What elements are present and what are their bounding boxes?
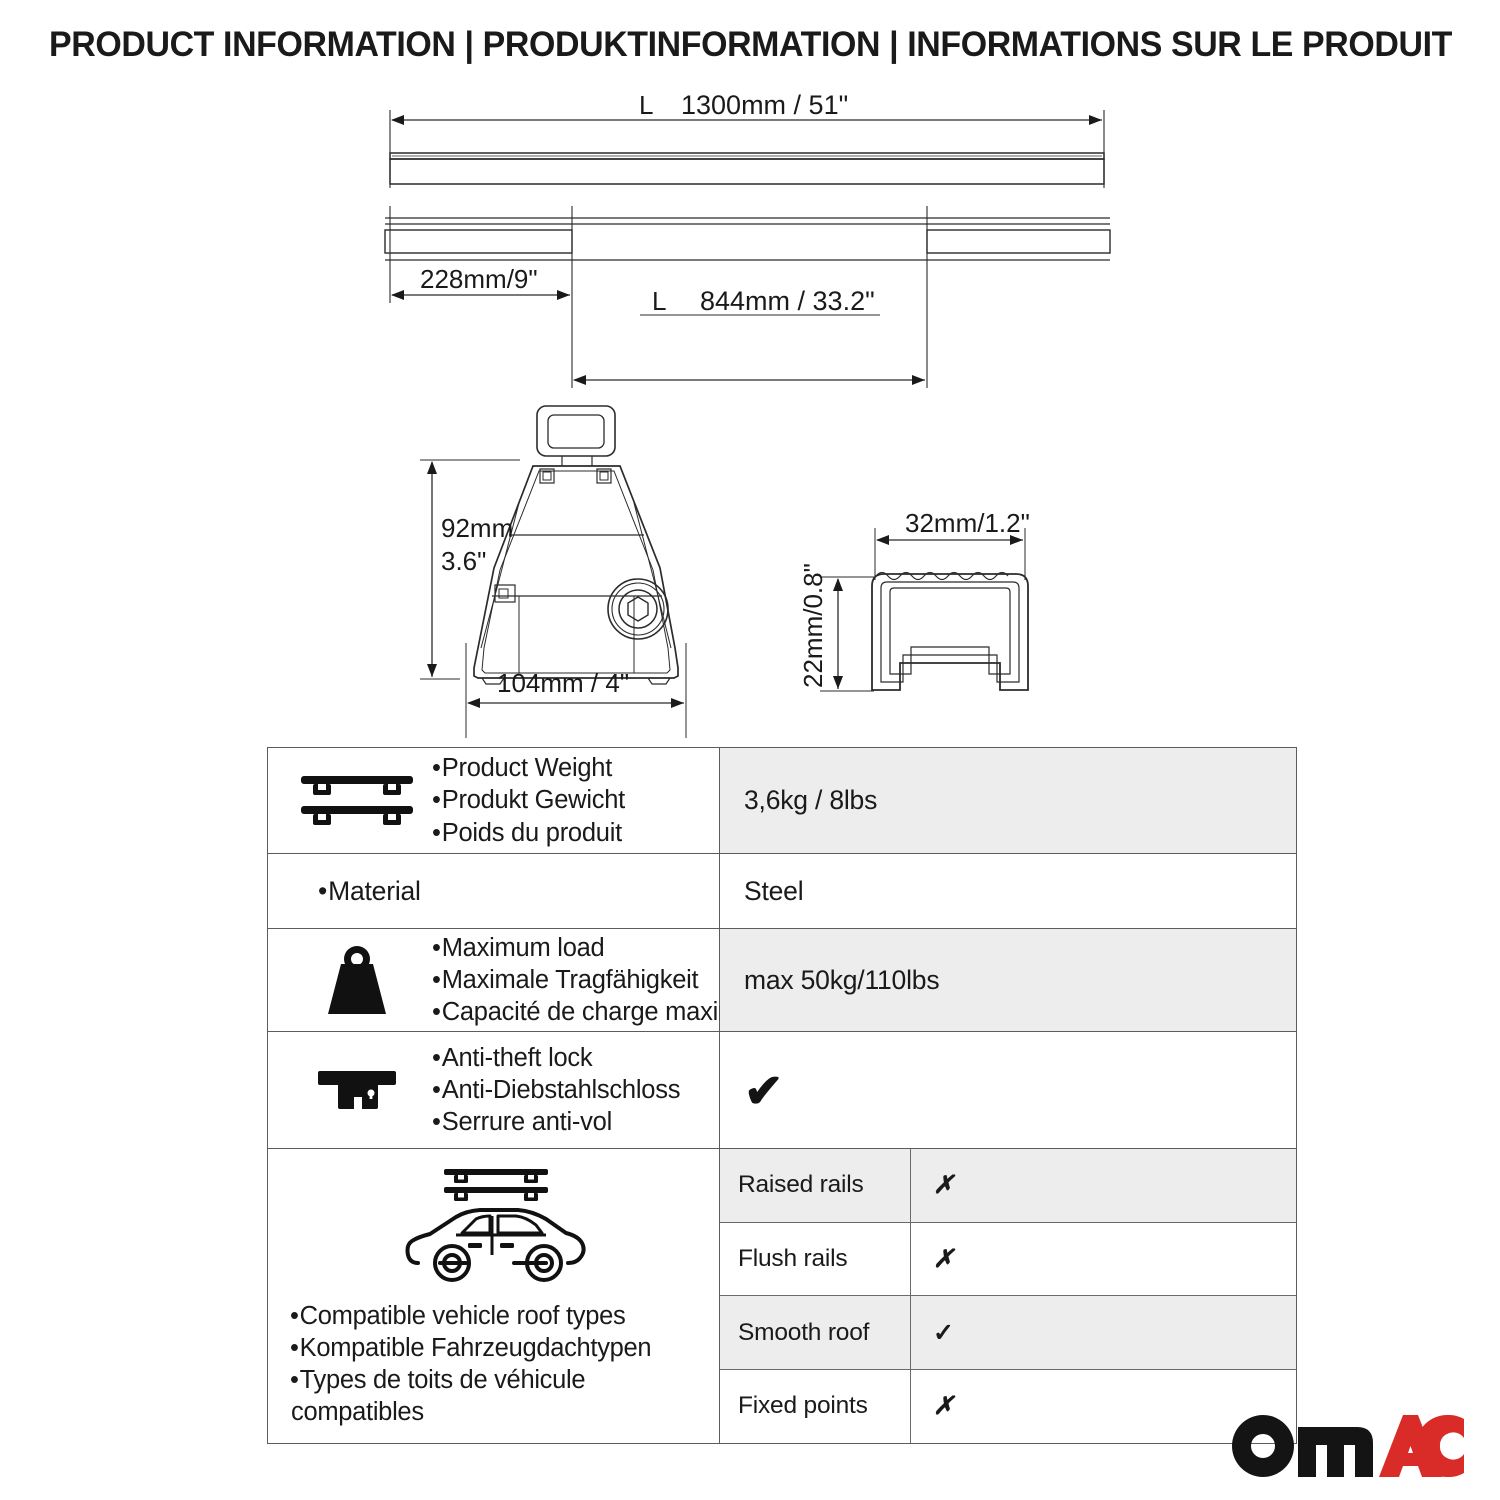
label-line: Produkt Gewicht	[432, 784, 713, 816]
roof-type-row-smooth-roof: Smooth roof ✓	[720, 1296, 1296, 1370]
lock-icon	[282, 1063, 432, 1117]
specification-table: Product Weight Produkt Gewicht Poids du …	[267, 747, 1297, 1444]
spec-value-maximum-load: max 50kg/110lbs	[720, 929, 1296, 1031]
dim-overall-value: 1300mm / 51"	[681, 90, 848, 120]
dim-foot-height-line1: 92mm	[441, 513, 513, 543]
table-row-compatible-roof-types: Compatible vehicle roof types Kompatible…	[268, 1149, 1296, 1443]
roof-type-status: ✓	[911, 1296, 1296, 1369]
dim-foot-width-value: 104mm / 4"	[497, 668, 629, 698]
label-line: Anti-Diebstahlschloss	[432, 1074, 713, 1106]
roof-type-name: Smooth roof	[720, 1296, 911, 1369]
check-icon: ✔	[744, 1067, 783, 1114]
spec-label-cell: Product Weight Produkt Gewicht Poids du …	[268, 748, 720, 853]
table-row-product-weight: Product Weight Produkt Gewicht Poids du …	[268, 748, 1296, 854]
roof-type-status: ✗	[911, 1223, 1296, 1296]
logo-letter-o	[1232, 1415, 1294, 1477]
roof-bars-icon	[282, 770, 432, 832]
spec-label-cell: Material	[268, 854, 720, 928]
label-line: Anti-theft lock	[432, 1042, 713, 1074]
label-line: compatibles	[290, 1396, 651, 1428]
spec-label-text: Anti-theft lock Anti-Diebstahlschloss Se…	[432, 1042, 713, 1138]
label-line: Kompatible Fahrzeugdachtypen	[290, 1332, 651, 1364]
roof-type-status: ✗	[911, 1149, 1296, 1222]
dim-span-prefix: L	[652, 286, 666, 316]
omac-logo	[1232, 1415, 1464, 1477]
roof-types-label: Compatible vehicle roof types Kompatible…	[278, 1300, 651, 1429]
technical-drawing-svg: L 1300mm / 51" 228mm/9" L 844mm / 33.2" …	[0, 88, 1500, 738]
page-header: PRODUCT INFORMATION | PRODUKTINFORMATION…	[0, 0, 1500, 88]
dim-foot-height-line2: 3.6"	[441, 546, 486, 576]
label-line: Poids du produit	[432, 817, 713, 849]
roof-type-name: Flush rails	[720, 1223, 911, 1296]
dim-profile-width-value: 32mm/1.2"	[905, 508, 1030, 538]
logo-letter-m	[1298, 1427, 1373, 1477]
spec-value-material: Steel	[720, 854, 1296, 928]
dim-span-value: 844mm / 33.2"	[700, 286, 875, 316]
technical-drawing-area: L 1300mm / 51" 228mm/9" L 844mm / 33.2" …	[0, 88, 1500, 738]
cross-icon: ✗	[933, 1391, 954, 1421]
table-row-anti-theft-lock: Anti-theft lock Anti-Diebstahlschloss Se…	[268, 1032, 1296, 1149]
table-row-maximum-load: Maximum load Maximale Tragfähigkeit Capa…	[268, 929, 1296, 1032]
dim-profile-height-value: 22mm/0.8"	[798, 563, 828, 688]
cross-icon: ✗	[933, 1244, 954, 1274]
spec-label-cell: Anti-theft lock Anti-Diebstahlschloss Se…	[268, 1032, 720, 1148]
label-line: Compatible vehicle roof types	[290, 1300, 651, 1332]
spec-label-text: Product Weight Produkt Gewicht Poids du …	[432, 752, 713, 848]
roof-types-subtable: Raised rails ✗ Flush rails ✗ Smooth roof…	[720, 1149, 1296, 1443]
spec-label-cell: Compatible vehicle roof types Kompatible…	[268, 1149, 720, 1443]
cross-icon: ✗	[933, 1170, 954, 1200]
roof-type-row-raised-rails: Raised rails ✗	[720, 1149, 1296, 1223]
dim-end-value: 228mm/9"	[420, 264, 538, 294]
omac-logo-svg	[1232, 1415, 1464, 1477]
roof-type-name: Fixed points	[720, 1370, 911, 1443]
check-icon: ✓	[933, 1318, 954, 1348]
roof-type-name: Raised rails	[720, 1149, 911, 1222]
roof-type-row-fixed-points: Fixed points ✗	[720, 1370, 1296, 1443]
table-row-material: Material Steel	[268, 854, 1296, 929]
dim-overall-prefix: L	[639, 90, 653, 120]
label-line: Types de toits de véhicule	[290, 1364, 651, 1396]
spec-label-cell: Maximum load Maximale Tragfähigkeit Capa…	[268, 929, 720, 1031]
label-line: Serrure anti-vol	[432, 1106, 713, 1138]
page-title: PRODUCT INFORMATION | PRODUKTINFORMATION…	[49, 24, 1452, 65]
car-with-roof-bars-icon	[396, 1163, 592, 1294]
label-line: Product Weight	[432, 752, 713, 784]
weight-icon	[282, 942, 432, 1018]
roof-type-row-flush-rails: Flush rails ✗	[720, 1223, 1296, 1297]
spec-label-text: Material	[282, 876, 421, 907]
spec-value-anti-theft-lock: ✔	[720, 1032, 1296, 1148]
spec-value-product-weight: 3,6kg / 8lbs	[720, 748, 1296, 853]
